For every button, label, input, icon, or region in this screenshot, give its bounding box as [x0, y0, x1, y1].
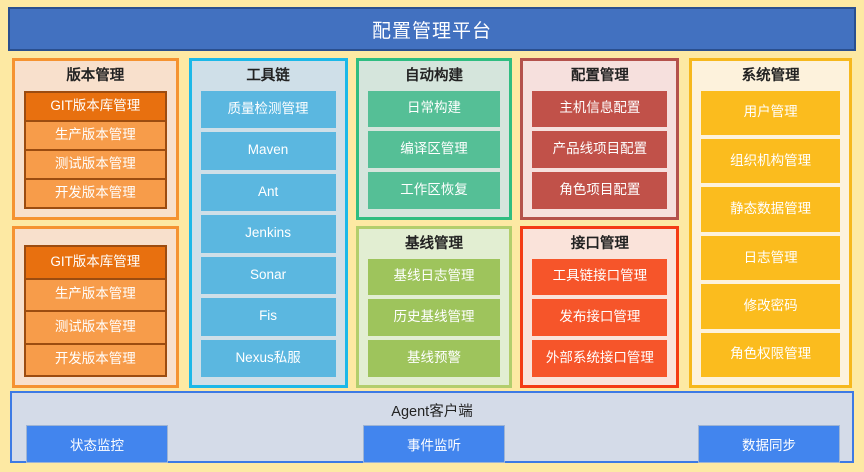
column-system-management: 系统管理 用户管理 组织机构管理 静态数据管理 日志管理 修改密码 角色权限管理	[683, 58, 858, 388]
item-list: 主机信息配置 产品线项目配置 角色项目配置	[532, 91, 667, 210]
item-list: GIT版本库管理 生产版本管理 测试版本管理 开发版本管理	[24, 245, 167, 377]
panel-toolchain: 工具链 质量检测管理 Maven Ant Jenkins Sonar Fis N…	[189, 58, 348, 388]
item-list: 质量检测管理 Maven Ant Jenkins Sonar Fis Nexus…	[201, 91, 336, 378]
item-daily-build[interactable]: 日常构建	[368, 91, 501, 128]
item-production-version-management-2[interactable]: 生产版本管理	[26, 280, 165, 311]
panel-interface-management: 接口管理 工具链接口管理 发布接口管理 外部系统接口管理	[520, 226, 679, 388]
column-configuration-management: 配置管理 主机信息配置 产品线项目配置 角色项目配置 接口管理 工具链接口管理 …	[516, 58, 683, 388]
panel-configuration-management: 配置管理 主机信息配置 产品线项目配置 角色项目配置	[520, 58, 679, 220]
panel-title-baseline-management: 基线管理	[368, 231, 501, 259]
panel-title-interface-management: 接口管理	[532, 231, 667, 259]
item-product-line-project-configuration[interactable]: 产品线项目配置	[532, 131, 667, 168]
panel-system-management: 系统管理 用户管理 组织机构管理 静态数据管理 日志管理 修改密码 角色权限管理	[689, 58, 852, 388]
panel-auto-build: 自动构建 日常构建 编译区管理 工作区恢复	[356, 58, 513, 220]
item-role-project-configuration[interactable]: 角色项目配置	[532, 172, 667, 209]
item-baseline-log-management[interactable]: 基线日志管理	[368, 259, 501, 296]
item-nexus-private-server[interactable]: Nexus私服	[201, 340, 336, 378]
agent-button-data-sync[interactable]: 数据同步	[698, 425, 840, 463]
agent-client-bar: Agent客户端 状态监控 事件监听 数据同步	[10, 391, 854, 463]
panel-title-auto-build: 自动构建	[368, 63, 501, 91]
item-baseline-alert[interactable]: 基线预警	[368, 340, 501, 377]
item-list: 用户管理 组织机构管理 静态数据管理 日志管理 修改密码 角色权限管理	[701, 91, 840, 378]
panel-title-version-management: 版本管理	[24, 63, 167, 91]
item-list: 日常构建 编译区管理 工作区恢复	[368, 91, 501, 210]
panel-version-management-2: GIT版本库管理 生产版本管理 测试版本管理 开发版本管理	[12, 226, 179, 388]
item-role-permission-management[interactable]: 角色权限管理	[701, 333, 840, 377]
item-test-version-management[interactable]: 测试版本管理	[26, 151, 165, 178]
item-list: 工具链接口管理 发布接口管理 外部系统接口管理	[532, 259, 667, 378]
item-dev-version-management[interactable]: 开发版本管理	[26, 180, 165, 207]
item-organization-management[interactable]: 组织机构管理	[701, 139, 840, 183]
agent-client-buttons: 状态监控 事件监听 数据同步	[12, 425, 852, 463]
item-workspace-recovery[interactable]: 工作区恢复	[368, 172, 501, 209]
item-list: 基线日志管理 历史基线管理 基线预警	[368, 259, 501, 378]
platform-title-banner: 配置管理平台	[8, 7, 856, 51]
agent-button-status-monitoring[interactable]: 状态监控	[26, 425, 168, 463]
item-host-info-configuration[interactable]: 主机信息配置	[532, 91, 667, 128]
agent-client-title: Agent客户端	[12, 393, 852, 423]
item-external-system-interface-management[interactable]: 外部系统接口管理	[532, 340, 667, 377]
diagram-canvas: 配置管理平台 版本管理 GIT版本库管理 生产版本管理 测试版本管理 开发版本管…	[0, 0, 864, 472]
item-historical-baseline-management[interactable]: 历史基线管理	[368, 299, 501, 336]
item-sonar[interactable]: Sonar	[201, 257, 336, 295]
item-maven[interactable]: Maven	[201, 132, 336, 170]
item-dev-version-management-2[interactable]: 开发版本管理	[26, 345, 165, 376]
item-git-repo-management-2[interactable]: GIT版本库管理	[26, 247, 165, 278]
item-git-repo-management[interactable]: GIT版本库管理	[26, 93, 165, 120]
item-list: GIT版本库管理 生产版本管理 测试版本管理 开发版本管理	[24, 91, 167, 210]
item-production-version-management[interactable]: 生产版本管理	[26, 122, 165, 149]
item-toolchain-interface-management[interactable]: 工具链接口管理	[532, 259, 667, 296]
agent-button-event-listening[interactable]: 事件监听	[363, 425, 505, 463]
column-version-management: 版本管理 GIT版本库管理 生产版本管理 测试版本管理 开发版本管理 GIT版本…	[6, 58, 185, 388]
item-release-interface-management[interactable]: 发布接口管理	[532, 299, 667, 336]
item-log-management[interactable]: 日志管理	[701, 236, 840, 280]
item-test-version-management-2[interactable]: 测试版本管理	[26, 312, 165, 343]
panel-title-configuration-management: 配置管理	[532, 63, 667, 91]
column-auto-build: 自动构建 日常构建 编译区管理 工作区恢复 基线管理 基线日志管理 历史基线管理…	[352, 58, 517, 388]
item-fis[interactable]: Fis	[201, 298, 336, 336]
item-user-management[interactable]: 用户管理	[701, 91, 840, 135]
item-static-data-management[interactable]: 静态数据管理	[701, 187, 840, 231]
panel-version-management-1: 版本管理 GIT版本库管理 生产版本管理 测试版本管理 开发版本管理	[12, 58, 179, 220]
panel-baseline-management: 基线管理 基线日志管理 历史基线管理 基线预警	[356, 226, 513, 388]
panel-title-toolchain: 工具链	[201, 63, 336, 91]
column-toolchain: 工具链 质量检测管理 Maven Ant Jenkins Sonar Fis N…	[185, 58, 352, 388]
page-title: 配置管理平台	[372, 16, 492, 43]
item-jenkins[interactable]: Jenkins	[201, 215, 336, 253]
module-columns: 版本管理 GIT版本库管理 生产版本管理 测试版本管理 开发版本管理 GIT版本…	[6, 58, 858, 388]
item-ant[interactable]: Ant	[201, 174, 336, 212]
item-change-password[interactable]: 修改密码	[701, 284, 840, 328]
panel-title-system-management: 系统管理	[701, 63, 840, 91]
item-compile-area-management[interactable]: 编译区管理	[368, 131, 501, 168]
item-quality-inspection-management[interactable]: 质量检测管理	[201, 91, 336, 129]
